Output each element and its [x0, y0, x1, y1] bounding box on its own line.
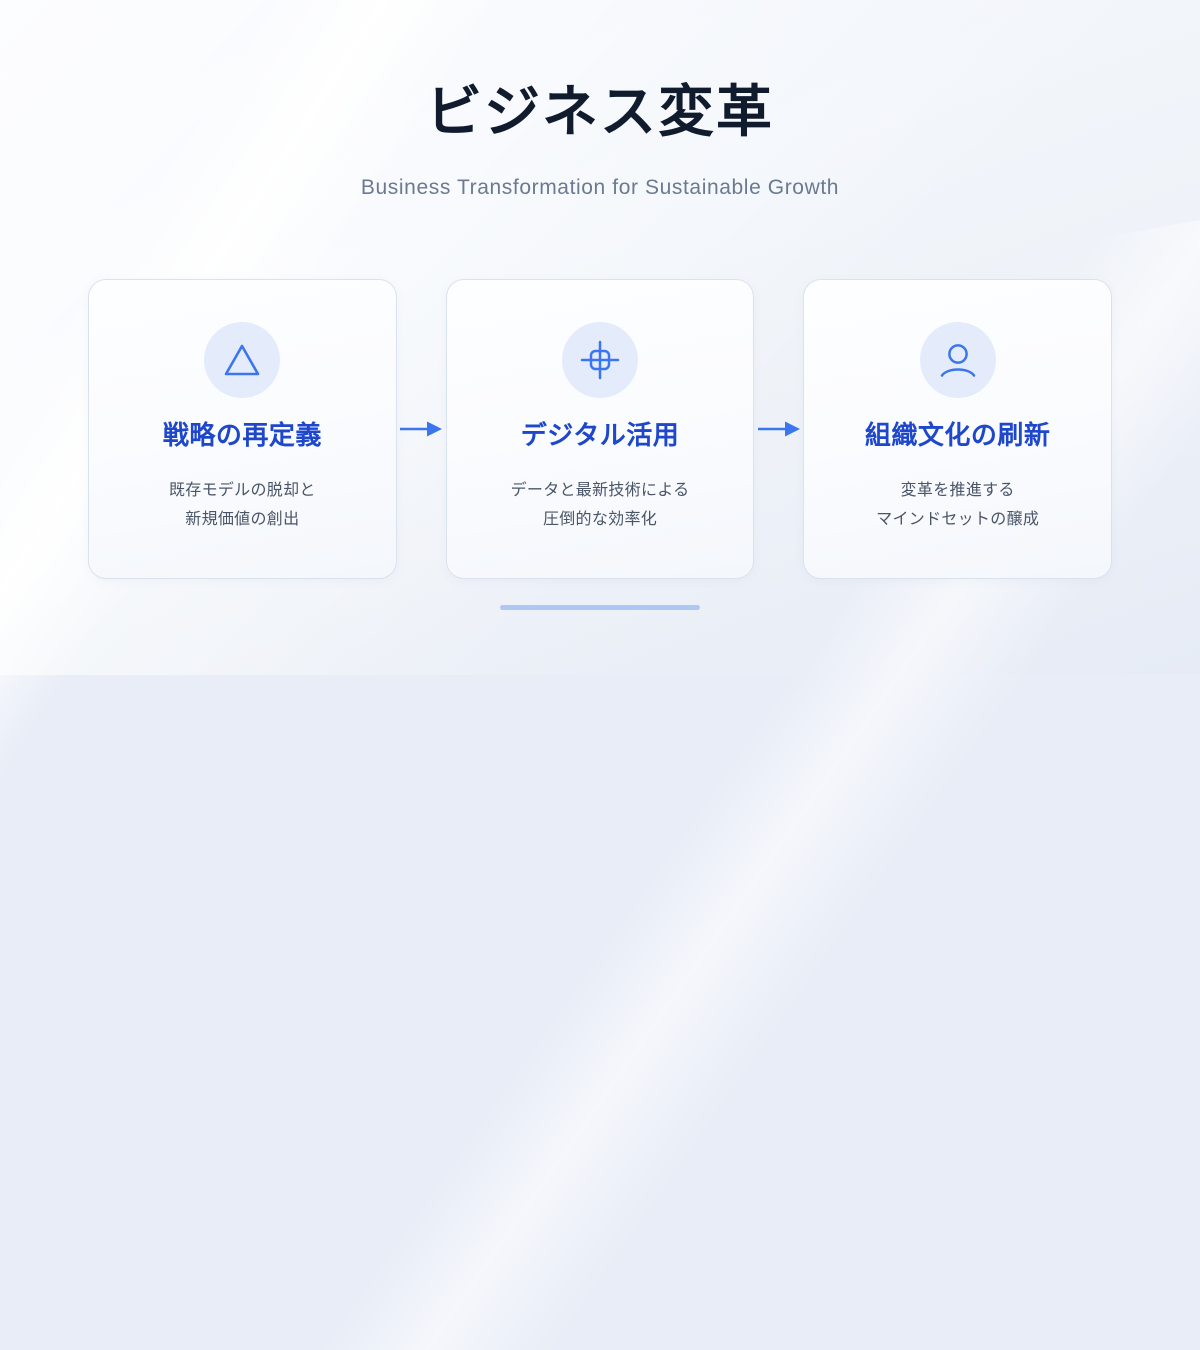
crosshair-target-icon: [562, 322, 638, 398]
card-digital[interactable]: デジタル活用 データと最新技術による 圧倒的な効率化: [446, 279, 755, 579]
page-title: ビジネス変革: [0, 82, 1200, 142]
card-title: デジタル活用: [521, 420, 679, 451]
card-description-line-1: 変革を推進する: [876, 477, 1039, 506]
person-icon: [920, 322, 996, 398]
arrow-right-icon-1: [397, 279, 446, 579]
card-culture[interactable]: 組織文化の刷新 変革を推進する マインドセットの醸成: [803, 279, 1112, 579]
card-description: データと最新技術による 圧倒的な効率化: [511, 477, 690, 535]
card-title: 組織文化の刷新: [865, 420, 1051, 451]
card-description-line-1: データと最新技術による: [511, 477, 690, 506]
card-description-line-2: 圧倒的な効率化: [511, 506, 690, 535]
card-row: 戦略の再定義 既存モデルの脱却と 新規価値の創出 デジタル活用: [88, 279, 1112, 579]
card-description-line-1: 既存モデルの脱却と: [169, 477, 316, 506]
card-description-line-2: マインドセットの醸成: [876, 506, 1039, 535]
card-description-line-2: 新規価値の創出: [169, 506, 316, 535]
card-strategy[interactable]: 戦略の再定義 既存モデルの脱却と 新規価値の創出: [88, 279, 397, 579]
card-title: 戦略の再定義: [163, 420, 322, 451]
card-description: 既存モデルの脱却と 新規価値の創出: [169, 477, 316, 535]
slide-content: ビジネス変革 Business Transformation for Susta…: [0, 0, 1200, 675]
card-description: 変革を推進する マインドセットの醸成: [876, 477, 1039, 535]
page-subtitle: Business Transformation for Sustainable …: [0, 176, 1200, 200]
accent-bar: [500, 605, 700, 610]
triangle-icon: [204, 322, 280, 398]
arrow-right-icon-2: [754, 279, 803, 579]
